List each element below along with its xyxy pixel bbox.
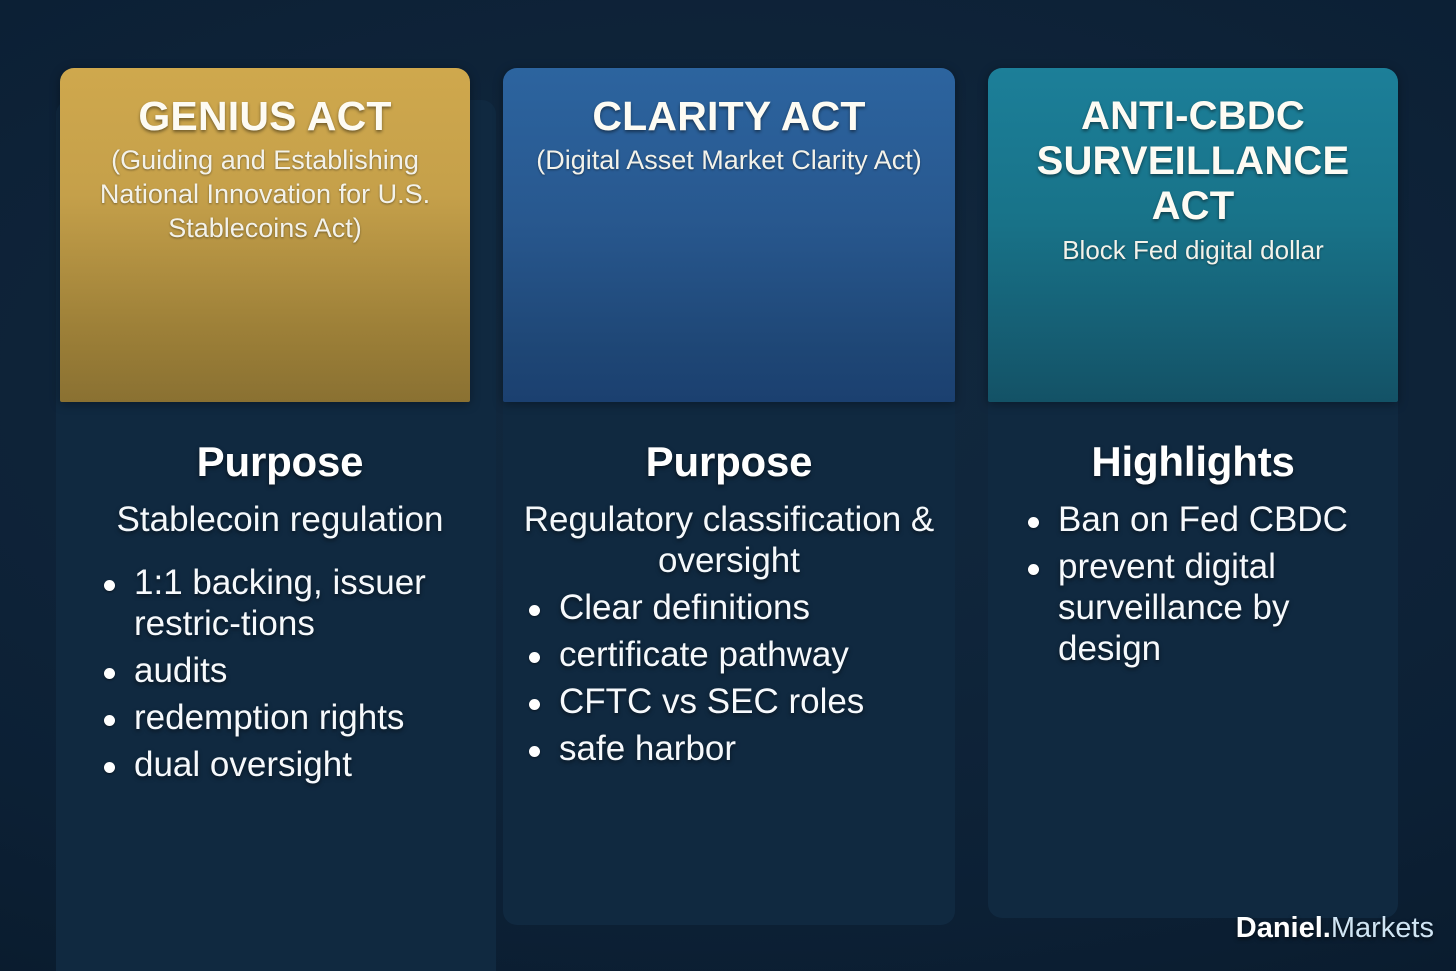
list-item: dual oversight <box>100 745 500 786</box>
list-item: audits <box>100 651 500 692</box>
act-subtitle-anti-cbdc: Block Fed digital dollar <box>1004 234 1382 267</box>
act-subtitle-genius: (Guiding and Establishing National Innov… <box>76 144 454 245</box>
list-item: safe harbor <box>525 729 955 770</box>
body-column-clarity-act: Purpose Regulatory classification & over… <box>503 438 955 776</box>
watermark-bold-part: Daniel. <box>1236 912 1331 944</box>
list-item: 1:1 backing, issuer restric-tions <box>100 563 500 645</box>
watermark-light-part: Markets <box>1331 912 1434 944</box>
body-column-genius-act: Purpose Stablecoin regulation 1:1 backin… <box>60 438 500 792</box>
act-title-clarity: CLARITY ACT <box>519 94 939 138</box>
list-item: Ban on Fed CBDC <box>1024 500 1398 541</box>
legislation-comparison-board: GENIUS ACT (Guiding and Establishing Nat… <box>0 0 1456 971</box>
bullet-list-genius: 1:1 backing, issuer restric-tions audits… <box>60 563 500 786</box>
section-title-purpose-genius: Purpose <box>60 438 500 486</box>
section-title-highlights: Highlights <box>988 438 1398 486</box>
card-header-anti-cbdc-act: ANTI-CBDC SURVEILLANCE ACT Block Fed dig… <box>988 68 1398 402</box>
bullet-list-clarity: Clear definitions certificate pathway CF… <box>503 588 955 770</box>
act-subtitle-clarity: (Digital Asset Market Clarity Act) <box>519 144 939 178</box>
watermark-daniel-markets: Daniel.Markets <box>1236 912 1434 945</box>
list-item: redemption rights <box>100 698 500 739</box>
section-title-purpose-clarity: Purpose <box>503 438 955 486</box>
bullet-list-anti-cbdc: Ban on Fed CBDC prevent digital surveill… <box>988 500 1398 670</box>
list-item: Clear definitions <box>525 588 955 629</box>
section-description-genius: Stablecoin regulation <box>60 500 500 541</box>
list-item: prevent digital surveillance by design <box>1024 547 1398 670</box>
card-header-clarity-act: CLARITY ACT (Digital Asset Market Clarit… <box>503 68 955 402</box>
card-header-genius-act: GENIUS ACT (Guiding and Establishing Nat… <box>60 68 470 402</box>
act-title-anti-cbdc: ANTI-CBDC SURVEILLANCE ACT <box>1004 94 1382 228</box>
section-description-clarity: Regulatory classification & oversight <box>503 500 955 582</box>
list-item: certificate pathway <box>525 635 955 676</box>
body-column-anti-cbdc-act: Highlights Ban on Fed CBDC prevent digit… <box>988 438 1398 676</box>
act-title-genius: GENIUS ACT <box>76 94 454 138</box>
list-item: CFTC vs SEC roles <box>525 682 955 723</box>
